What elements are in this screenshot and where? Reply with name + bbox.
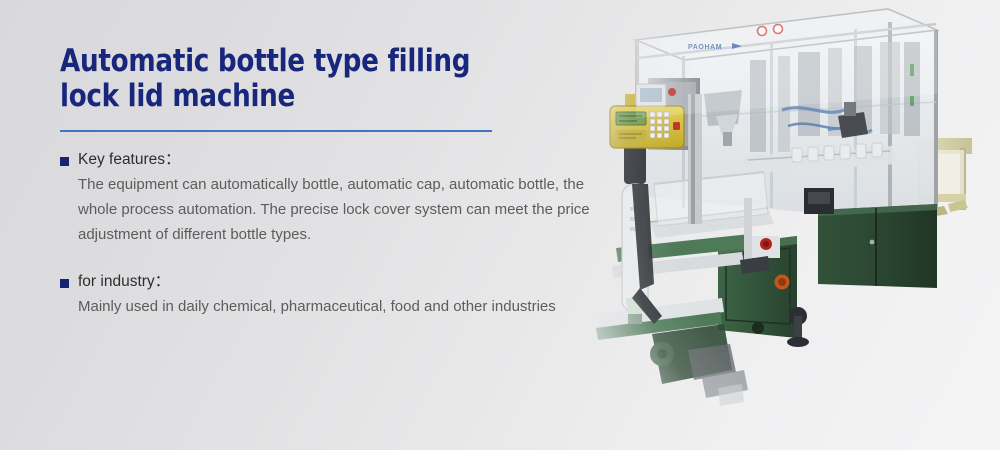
- feature-body-text: The equipment can automatically bottle, …: [78, 172, 605, 247]
- feature-heading-label: Key features：: [78, 151, 181, 169]
- text-column: Automatic bottle type filling lock lid m…: [60, 44, 605, 319]
- square-bullet-icon: [60, 157, 69, 166]
- machine-photo: PAOHAM: [592, 0, 1000, 444]
- feature-heading-label: for industry：: [78, 273, 170, 291]
- feature-heading-row: for industry：: [60, 273, 605, 291]
- feature-heading-row: Key features：: [60, 151, 605, 169]
- title-divider: [60, 130, 492, 132]
- photo-part-lower-detail: [650, 324, 748, 406]
- feature-block-for-industry: for industry： Mainly used in daily chemi…: [60, 273, 605, 319]
- square-bullet-icon: [60, 279, 69, 288]
- product-banner: Automatic bottle type filling lock lid m…: [0, 0, 1000, 450]
- photo-part-front-base-cabinet: [718, 236, 797, 338]
- feature-block-key-features: Key features： The equipment can automati…: [60, 151, 605, 247]
- feature-body-text: Mainly used in daily chemical, pharmaceu…: [78, 294, 598, 319]
- page-title: Automatic bottle type filling lock lid m…: [60, 44, 572, 114]
